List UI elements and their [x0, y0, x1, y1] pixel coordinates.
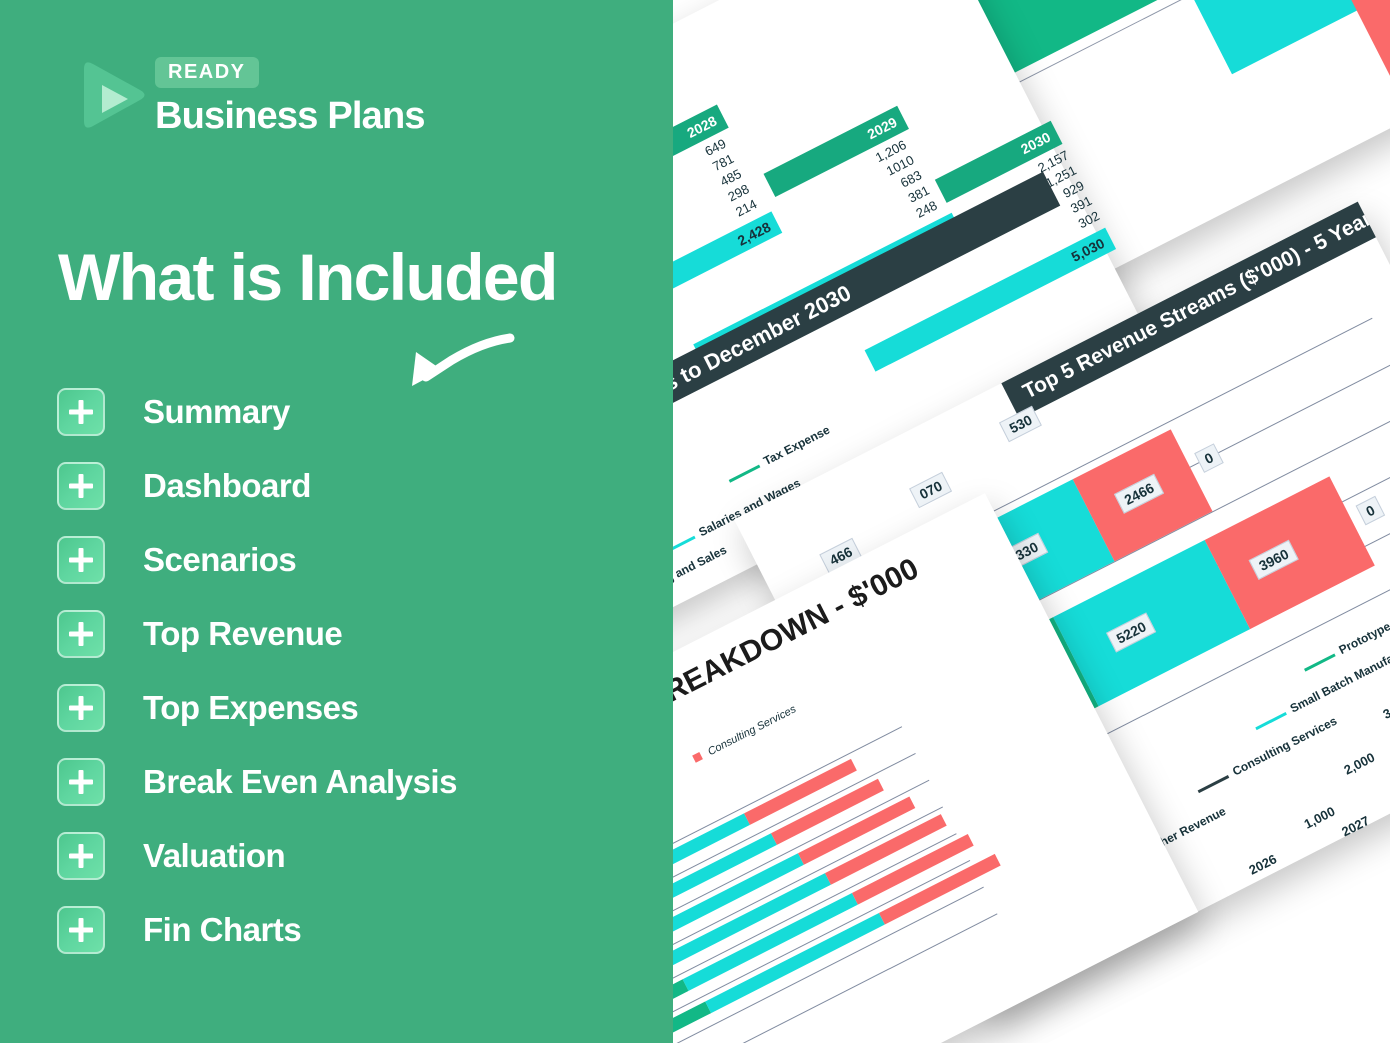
legend-label-marketing: Marketing and Sales — [673, 543, 729, 608]
cover-cyan-block — [1137, 0, 1390, 74]
feature-item-scenarios[interactable]: Scenarios — [57, 535, 637, 584]
plus-icon — [57, 462, 105, 510]
feature-label: Top Revenue — [143, 615, 342, 653]
feature-label: Valuation — [143, 837, 285, 875]
legend-swatch — [692, 752, 703, 763]
feature-label: Break Even Analysis — [143, 763, 457, 801]
plus-icon — [57, 758, 105, 806]
plus-icon — [57, 832, 105, 880]
month-bar — [879, 854, 1001, 925]
month-bar — [825, 814, 947, 885]
page-title: What is Included — [58, 244, 557, 310]
legend-marker-prototype — [1304, 653, 1336, 671]
bar-value-label: 0 — [1356, 496, 1385, 525]
bar-extra-label: 530 — [999, 406, 1042, 443]
feature-item-top-revenue[interactable]: Top Revenue — [57, 609, 637, 658]
feature-item-fin-charts[interactable]: Fin Charts — [57, 905, 637, 954]
brand-text: READY Business Plans — [155, 57, 425, 135]
axis-tick: 3,000 — [1380, 694, 1390, 722]
mockup-collage: Name Table of Contents 128.9 2028 2029 2… — [673, 0, 1390, 1043]
axis-tick: 2,000 — [1341, 750, 1377, 778]
brand-name: Business Plans — [155, 97, 425, 135]
left-promo-panel: READY Business Plans What is Included Su… — [0, 0, 673, 1043]
plus-icon — [57, 610, 105, 658]
feature-item-break-even-analysis[interactable]: Break Even Analysis — [57, 757, 637, 806]
cover-red-block — [1343, 0, 1390, 100]
feature-item-summary[interactable]: Summary — [57, 387, 637, 436]
legend-label-prototype: Prototype Services — [1336, 595, 1390, 657]
month-bar — [798, 796, 915, 864]
feature-item-valuation[interactable]: Valuation — [57, 831, 637, 880]
feature-list: Summary Dashboard Scenarios Top Revenue … — [57, 387, 637, 979]
legend-label-consulting: Consulting Services — [1230, 714, 1339, 779]
curved-arrow-icon — [390, 330, 520, 390]
plus-icon — [57, 388, 105, 436]
plus-icon — [57, 684, 105, 732]
legend-label-consulting-brk: Consulting Services — [692, 703, 798, 765]
feature-label: Scenarios — [143, 541, 296, 579]
plus-icon — [57, 906, 105, 954]
feature-label: Summary — [143, 393, 290, 431]
legend-marker-smallbatch — [1255, 712, 1287, 730]
plus-icon — [57, 536, 105, 584]
feature-label: Top Expenses — [143, 689, 358, 727]
axis-year: 2027 — [1339, 813, 1372, 839]
brand-logo: READY Business Plans — [70, 55, 490, 150]
bar-extra-label: 070 — [909, 472, 952, 509]
legend-marker-salaries — [673, 536, 696, 554]
month-bar — [852, 834, 974, 905]
feature-item-top-expenses[interactable]: Top Expenses — [57, 683, 637, 732]
feature-label: Dashboard — [143, 467, 311, 505]
axis-tick: 1,000 — [1302, 804, 1338, 832]
legend-label-tax-expense: Tax Expense — [761, 423, 832, 468]
legend-marker-consulting — [1198, 775, 1230, 793]
feature-item-dashboard[interactable]: Dashboard — [57, 461, 637, 510]
bar-value-label: 0 — [1194, 443, 1223, 472]
feature-label: Fin Charts — [143, 911, 301, 949]
ready-badge: READY — [155, 57, 259, 88]
play-icon — [70, 55, 150, 135]
axis-year: 2026 — [1246, 851, 1279, 877]
legend-marker-tax — [729, 465, 761, 483]
